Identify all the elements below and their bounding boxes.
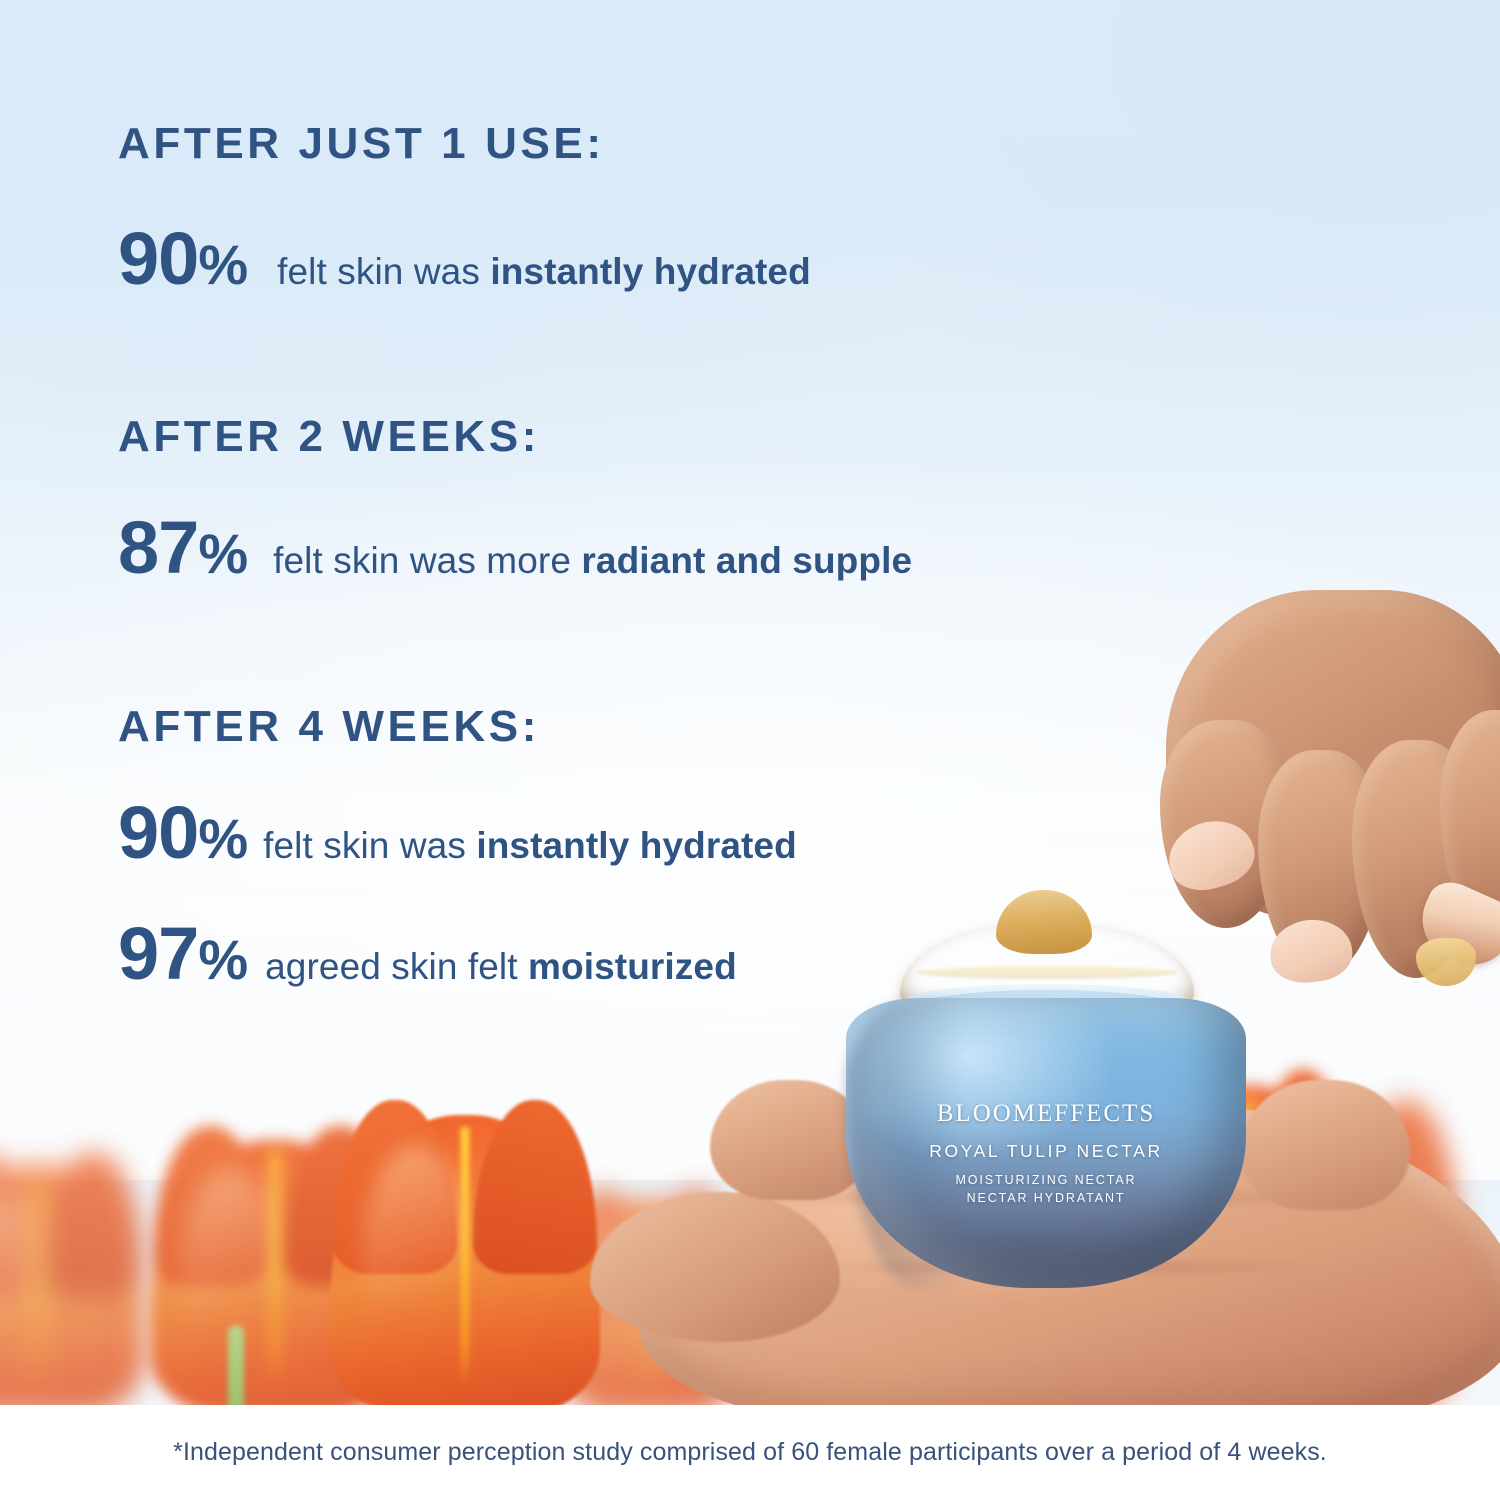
claim-phrase: agreed skin felt moisturized	[265, 948, 737, 985]
tulip-near	[330, 1115, 600, 1405]
tulip-stem	[228, 1325, 244, 1405]
claim-emphasis: instantly hydrated	[476, 825, 796, 866]
claim-percent: 90%	[118, 222, 247, 296]
finger	[1240, 1080, 1410, 1210]
claim-block-3: AFTER 4 WEEKS: 90% felt skin was instant…	[118, 705, 797, 991]
claim-row: 97% agreed skin felt moisturized	[118, 917, 797, 991]
claim-emphasis: instantly hydrated	[490, 251, 810, 292]
claim-block-1: AFTER JUST 1 USE: 90% felt skin was inst…	[118, 122, 811, 296]
product-descriptor-fr: NECTAR HYDRATANT	[846, 1190, 1246, 1208]
claim-phrase: felt skin was more radiant and supple	[273, 542, 912, 579]
nectar-peak	[996, 890, 1092, 954]
spatula-gel	[1416, 938, 1476, 986]
claim-heading: AFTER 4 WEEKS:	[118, 705, 797, 749]
claim-block-2: AFTER 2 WEEKS: 87% felt skin was more ra…	[118, 415, 912, 585]
claim-phrase: felt skin was instantly hydrated	[263, 827, 797, 864]
brand-name: BLOOMEFFECTS	[846, 1100, 1246, 1128]
claim-heading: AFTER 2 WEEKS:	[118, 415, 912, 459]
percent-symbol: %	[198, 928, 247, 991]
claim-percent: 97%	[118, 917, 247, 991]
claim-row: 87% felt skin was more radiant and suppl…	[118, 511, 912, 585]
claim-row: 90% felt skin was instantly hydrated	[118, 796, 797, 870]
claim-percent: 87%	[118, 511, 247, 585]
product-name: ROYAL TULIP NECTAR	[846, 1141, 1246, 1162]
product-claims-banner: BLOOMEFFECTS ROYAL TULIP NECTAR MOISTURI…	[0, 0, 1500, 1500]
jar-label: BLOOMEFFECTS ROYAL TULIP NECTAR MOISTURI…	[846, 1100, 1246, 1208]
percent-symbol: %	[198, 807, 247, 870]
claim-percent: 90%	[118, 796, 247, 870]
claim-heading: AFTER JUST 1 USE:	[118, 122, 811, 166]
upper-hand	[1120, 590, 1500, 1010]
product-descriptor-en: MOISTURIZING NECTAR	[846, 1172, 1246, 1190]
footer-bar: *Independent consumer perception study c…	[0, 1405, 1500, 1500]
claim-row: 90% felt skin was instantly hydrated	[118, 222, 811, 296]
claim-phrase: felt skin was instantly hydrated	[277, 253, 811, 290]
percent-symbol: %	[198, 233, 247, 296]
claim-emphasis: radiant and supple	[581, 540, 912, 581]
percent-symbol: %	[198, 522, 247, 585]
tulip-far	[0, 1165, 145, 1405]
study-footnote: *Independent consumer perception study c…	[173, 1438, 1327, 1467]
claim-emphasis: moisturized	[528, 946, 737, 987]
